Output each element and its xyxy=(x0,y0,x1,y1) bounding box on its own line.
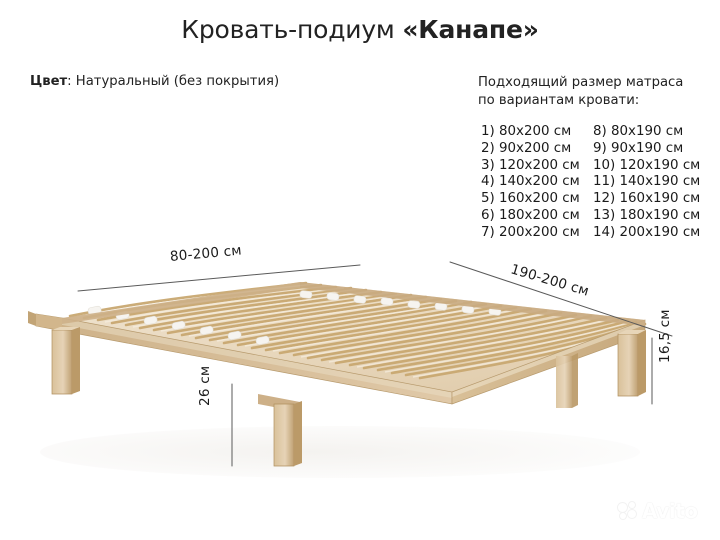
avito-watermark: Avito xyxy=(618,498,706,524)
leg-front-right xyxy=(618,330,646,396)
floor-shadow xyxy=(40,426,640,478)
avito-logo-icon xyxy=(618,502,639,520)
leg-front-left xyxy=(52,327,80,394)
rail-left-end xyxy=(28,311,62,330)
bed-diagram xyxy=(0,0,720,540)
avito-wordmark: Avito xyxy=(642,499,697,523)
leg-back-right xyxy=(556,353,578,408)
leg-front-center xyxy=(274,401,302,466)
dimension-label-height-frame: 16,5 см xyxy=(657,309,673,363)
dimension-label-height-total: 26 см xyxy=(197,366,213,406)
